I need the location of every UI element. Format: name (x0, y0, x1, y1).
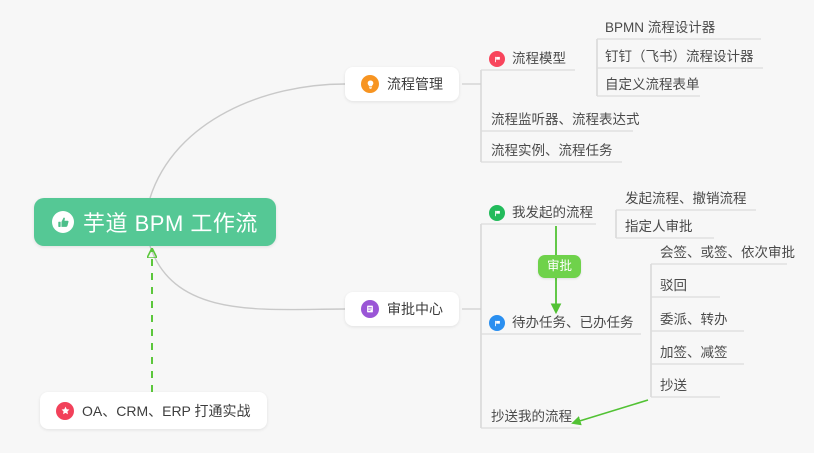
flow-arrow-carbon-copy (573, 400, 648, 423)
node-process-listener-expression[interactable]: 流程监听器、流程表达式 (487, 103, 646, 131)
node-dingtalk-feishu-designer[interactable]: 钉钉（飞书）流程设计器 (601, 40, 760, 68)
approval-flow-badge: 审批 (538, 255, 581, 278)
node-start-cancel-process[interactable]: 发起流程、撤销流程 (621, 182, 753, 210)
node-todo-done-tasks-label: 待办任务、已办任务 (512, 311, 634, 331)
node-add-remove-sign-label: 加签、减签 (660, 341, 728, 361)
node-custom-process-form[interactable]: 自定义流程表单 (601, 68, 706, 96)
node-assignee-approval[interactable]: 指定人审批 (621, 210, 699, 238)
branch-approval-center-label: 审批中心 (387, 299, 443, 319)
node-reject-label: 驳回 (660, 274, 687, 294)
lightbulb-icon (361, 75, 379, 93)
branch-process-management-label: 流程管理 (387, 74, 443, 94)
node-bpmn-designer[interactable]: BPMN 流程设计器 (601, 11, 721, 39)
node-start-cancel-process-label: 发起流程、撤销流程 (625, 187, 747, 207)
node-process-listener-expression-label: 流程监听器、流程表达式 (491, 108, 640, 128)
branch-process-management[interactable]: 流程管理 (345, 67, 459, 101)
mindmap-canvas[interactable]: 芋道 BPM 工作流 流程管理 流程模型 BPMN 流程设计器 钉钉（飞书）流程… (0, 0, 814, 453)
branch-approval-center[interactable]: 审批中心 (345, 292, 459, 326)
node-my-started-processes[interactable]: 我发起的流程 (487, 196, 599, 224)
flag-icon (489, 51, 505, 67)
edge-root-to-approval-center (150, 246, 345, 310)
node-cc-to-me-processes-label: 抄送我的流程 (491, 405, 572, 425)
node-multi-approval-modes-label: 会签、或签、依次审批 (660, 241, 795, 261)
node-bpmn-designer-label: BPMN 流程设计器 (605, 16, 715, 36)
root-node-label: 芋道 BPM 工作流 (83, 206, 258, 238)
node-my-started-processes-label: 我发起的流程 (512, 201, 593, 221)
node-carbon-copy[interactable]: 抄送 (656, 369, 693, 397)
bottom-note-label: OA、CRM、ERP 打通实战 (82, 401, 251, 421)
root-node[interactable]: 芋道 BPM 工作流 (34, 198, 276, 246)
node-custom-process-form-label: 自定义流程表单 (605, 73, 700, 93)
node-dingtalk-feishu-designer-label: 钉钉（飞书）流程设计器 (605, 45, 754, 65)
document-icon (361, 300, 379, 318)
flag-icon (489, 205, 505, 221)
node-process-instance-task[interactable]: 流程实例、流程任务 (487, 134, 619, 162)
node-assignee-approval-label: 指定人审批 (625, 215, 693, 235)
node-process-model-label: 流程模型 (512, 47, 566, 67)
node-process-instance-task-label: 流程实例、流程任务 (491, 139, 613, 159)
node-todo-done-tasks[interactable]: 待办任务、已办任务 (487, 306, 640, 334)
node-multi-approval-modes[interactable]: 会签、或签、依次审批 (656, 236, 801, 264)
bottom-note-card[interactable]: OA、CRM、ERP 打通实战 (40, 392, 267, 429)
edge-root-to-process-management (150, 84, 345, 198)
node-process-model[interactable]: 流程模型 (487, 42, 572, 70)
thumbs-up-icon (52, 211, 74, 233)
node-reject[interactable]: 驳回 (656, 269, 693, 297)
node-delegate-transfer-label: 委派、转办 (660, 308, 728, 328)
node-cc-to-me-processes[interactable]: 抄送我的流程 (487, 400, 578, 428)
node-add-remove-sign[interactable]: 加签、减签 (656, 336, 734, 364)
node-delegate-transfer[interactable]: 委派、转办 (656, 303, 734, 331)
flag-icon (489, 315, 505, 331)
star-icon (56, 402, 74, 420)
node-carbon-copy-label: 抄送 (660, 374, 687, 394)
